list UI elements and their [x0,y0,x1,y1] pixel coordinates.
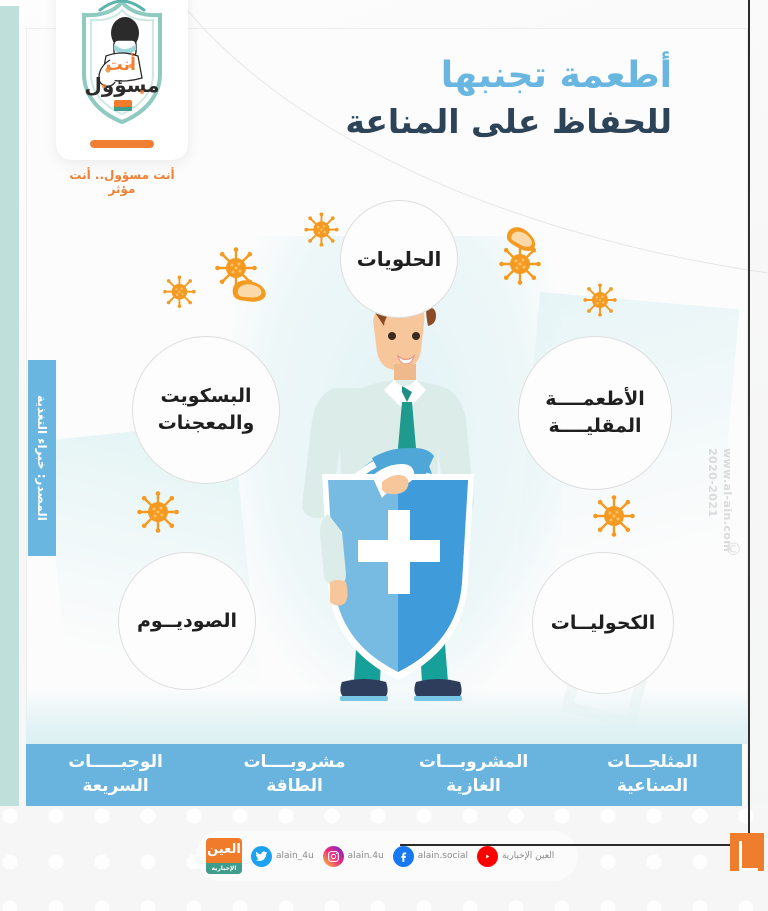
man-holding-medical-shield [276,252,520,724]
strip-item-soft-drinks[interactable]: المشروبـــات الغازية [384,751,563,799]
strip-item-industrial-ices[interactable]: المثلجـــات الصناعية [563,751,742,799]
source-tag-label: المصدر: خبراء التغذية [35,395,49,521]
circle-label-line1: البسكويت [161,383,252,410]
copyright-tag: www.al-ain.com 2020-2021 [704,448,744,588]
source-tag: المصدر: خبراء التغذية [28,360,56,556]
page-title-line1: أطعمة تجنبها [345,56,672,96]
alain-news-logo[interactable]: العين الإخبارية [206,838,242,874]
campaign-badge-card: أنت مسؤول [56,0,188,160]
strip-label-line1: الوجبـــــات [30,751,201,775]
youtube-icon [477,846,498,867]
circle-label: الصوديــوم [137,608,237,635]
circle-label-line1: الأطعمــــة [545,386,645,413]
bottom-category-strip: المثلجـــات الصناعية المشروبـــات الغازي… [26,744,742,806]
twitter-icon [251,846,272,867]
strip-label-line1: المثلجـــات [567,751,738,775]
strip-label-line1: المشروبـــات [388,751,559,775]
strip-label-line2: الطاقة [209,775,380,799]
strip-label-line2: الغازية [388,775,559,799]
youtube-handle: العين الإخبارية [502,851,554,861]
alain-logo-word: العين [206,842,242,857]
circle-alcohol[interactable]: الكحوليــات [532,552,674,694]
social-youtube[interactable]: العين الإخبارية [477,846,554,867]
page-title: أطعمة تجنبها للحفاظ على المناعة [345,56,672,141]
svg-text:مسؤول: مسؤول [84,73,159,97]
circle-sweets[interactable]: الحلويات [340,200,458,318]
circle-sodium[interactable]: الصوديــوم [118,552,256,690]
copyright-years: 2020-2021 [706,448,719,517]
circle-label-line2: المقليــــة [548,413,641,440]
circle-fried-foods[interactable]: الأطعمــــة المقليــــة [518,336,672,490]
orange-corner-bracket [730,833,764,871]
copyright-site: www.al-ain.com [721,448,734,552]
twitter-handle: alain_4u [276,851,314,861]
circle-label-line2: والمعجنات [158,410,255,437]
circle-label: الحلويات [357,245,442,273]
footer-social-bar: العين الإخبارية alain_4u alain.4u alain.… [196,831,578,881]
badge-underline [90,140,154,148]
social-instagram[interactable]: alain.4u [323,846,384,867]
right-edge-rule [748,0,750,846]
alain-logo-kicker: الإخبارية [206,863,242,874]
infographic-canvas: أنت مسؤول أنت مسؤول.. أنت مؤثر أطعمة تجن… [0,0,768,911]
strip-item-energy-drinks[interactable]: مشروبــــات الطاقة [205,751,384,799]
right-edge-rule-horizontal [400,844,750,846]
instagram-handle: alain.4u [348,851,384,861]
badge-tagline: أنت مسؤول.. أنت مؤثر [56,168,188,196]
left-mint-bar [0,6,19,826]
circle-biscuits-pastries[interactable]: البسكويت والمعجنات [132,336,280,484]
circle-label: الكحوليــات [551,610,655,637]
social-twitter[interactable]: alain_4u [251,846,314,867]
facebook-icon [393,846,414,867]
page-title-line2: للحفاظ على المناعة [345,104,672,141]
anta-masool-shield-logo: أنت مسؤول [70,0,174,126]
instagram-icon [323,846,344,867]
strip-label-line1: مشروبــــات [209,751,380,775]
strip-label-line2: السريعة [30,775,201,799]
facebook-handle: alain.social [418,851,468,861]
social-facebook[interactable]: alain.social [393,846,468,867]
strip-label-line2: الصناعية [567,775,738,799]
copyright-symbol: © [725,540,742,560]
strip-item-fast-food[interactable]: الوجبـــــات السريعة [26,751,205,799]
